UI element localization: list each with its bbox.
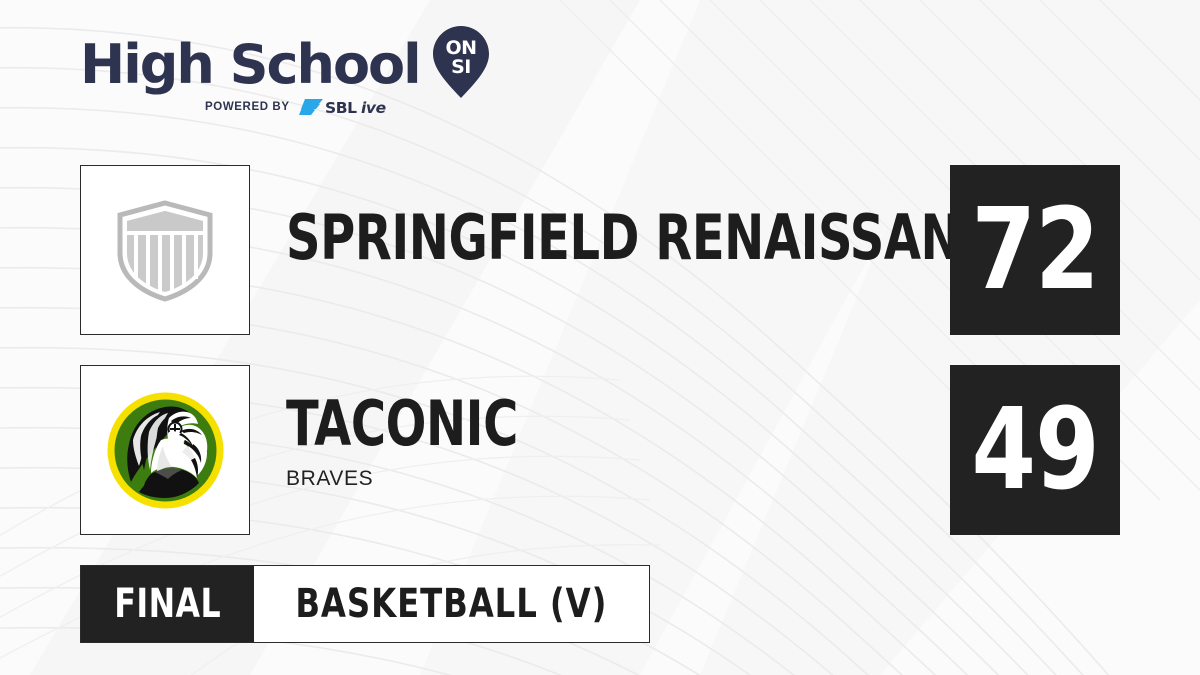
brand-header: High School ON SI POWERED BY SBL ive bbox=[80, 34, 492, 117]
status-sport-chip: BASKETBALL (V) bbox=[254, 566, 649, 642]
team-row: SPRINGFIELD RENAISSANCE bbox=[80, 165, 900, 335]
status-sport-label: BASKETBALL (V) bbox=[296, 584, 608, 624]
team-score-box: 72 bbox=[950, 165, 1120, 335]
team-score-box: 49 bbox=[950, 365, 1120, 535]
svg-text:ive: ive bbox=[361, 99, 386, 117]
team-score-value: 72 bbox=[971, 194, 1098, 306]
team-row: TACONIC BRAVES bbox=[80, 365, 900, 535]
placeholder-shield-icon bbox=[110, 195, 220, 305]
team-logo-box bbox=[80, 365, 250, 535]
team-logo-box bbox=[80, 165, 250, 335]
status-state-chip: FINAL bbox=[81, 566, 254, 642]
status-state-label: FINAL bbox=[114, 584, 221, 624]
team-mascot: BRAVES bbox=[286, 467, 556, 491]
braves-mascot-icon bbox=[103, 388, 228, 513]
team-text-block: TACONIC BRAVES bbox=[286, 393, 556, 491]
team-score-value: 49 bbox=[971, 394, 1098, 506]
svg-text:SBL: SBL bbox=[325, 99, 357, 117]
powered-by-label: POWERED BY bbox=[205, 101, 290, 113]
brand-wordmark-row: High School ON SI bbox=[80, 34, 492, 96]
team-name: TACONIC bbox=[286, 393, 518, 455]
team-name: SPRINGFIELD RENAISSANCE bbox=[286, 207, 1027, 269]
svg-text:SI: SI bbox=[451, 56, 471, 78]
onsi-pin-icon: ON SI bbox=[430, 24, 492, 105]
game-status-bar: FINAL BASKETBALL (V) bbox=[80, 565, 650, 643]
brand-wordmark: High School bbox=[80, 36, 420, 94]
sblive-logo: SBL ive bbox=[299, 97, 399, 117]
